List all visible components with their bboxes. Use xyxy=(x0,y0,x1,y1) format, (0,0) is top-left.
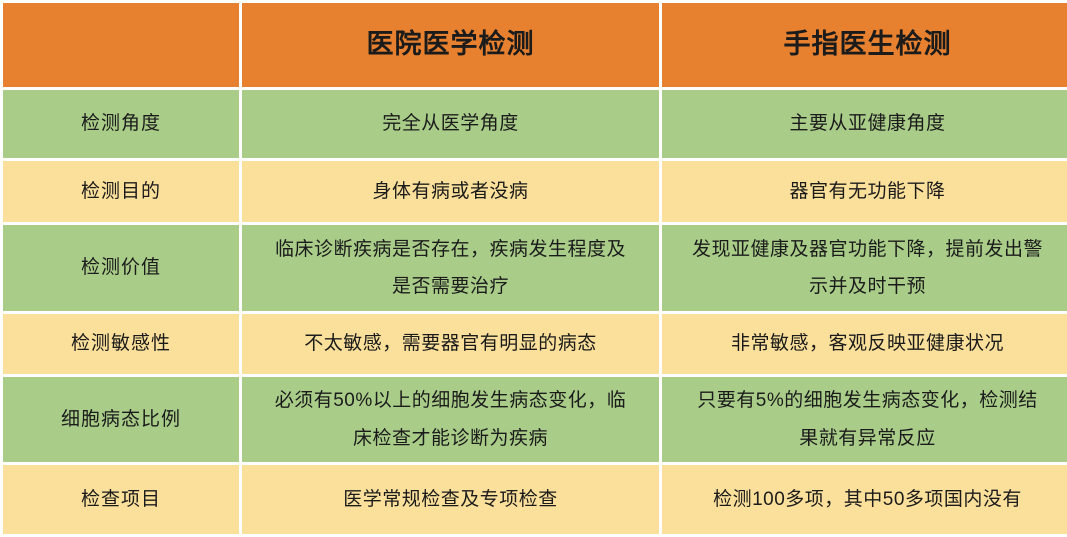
table-row: 细胞病态比例 必须有50%以上的细胞发生病态变化，临 床检查才能诊断为疾病 只要… xyxy=(3,377,1067,462)
cell-text-line-2: 是否需要治疗 xyxy=(250,268,651,305)
cell-finger-detection-purpose: 器官有无功能下降 xyxy=(662,161,1067,222)
cell-text-line-2: 床检查才能诊断为疾病 xyxy=(250,420,651,457)
cell-text-line-2: 果就有异常反应 xyxy=(670,420,1065,457)
table-row: 检查项目 医学常规检查及专项检查 检测100多项，其中50多项国内没有 xyxy=(3,465,1067,534)
cell-finger-examination-items: 检测100多项，其中50多项国内没有 xyxy=(662,465,1067,534)
table-row: 检测角度 完全从医学角度 主要从亚健康角度 xyxy=(3,90,1067,158)
row-label-detection-angle: 检测角度 xyxy=(3,90,239,158)
cell-text-line-1: 必须有50%以上的细胞发生病态变化，临 xyxy=(250,382,651,419)
cell-hospital-cell-pathology-ratio: 必须有50%以上的细胞发生病态变化，临 床检查才能诊断为疾病 xyxy=(242,377,659,462)
comparison-table: 医院医学检测 手指医生检测 检测角度 完全从医学角度 主要从亚健康角度 检测目的… xyxy=(0,0,1067,537)
cell-finger-detection-value: 发现亚健康及器官功能下降，提前发出警 示并及时干预 xyxy=(662,225,1067,311)
table-header-row: 医院医学检测 手指医生检测 xyxy=(3,3,1067,87)
cell-finger-detection-angle: 主要从亚健康角度 xyxy=(662,90,1067,158)
row-label-detection-value: 检测价值 xyxy=(3,225,239,311)
cell-text-line-2: 示并及时干预 xyxy=(670,268,1065,305)
row-label-cell-pathology-ratio: 细胞病态比例 xyxy=(3,377,239,462)
table-body: 检测角度 完全从医学角度 主要从亚健康角度 检测目的 身体有病或者没病 器官有无… xyxy=(3,90,1067,534)
row-label-examination-items: 检查项目 xyxy=(3,465,239,534)
cell-finger-cell-pathology-ratio: 只要有5%的细胞发生病态变化，检测结 果就有异常反应 xyxy=(662,377,1067,462)
cell-finger-detection-sensitivity: 非常敏感，客观反映亚健康状况 xyxy=(662,314,1067,374)
table-row: 检测目的 身体有病或者没病 器官有无功能下降 xyxy=(3,161,1067,222)
cell-hospital-detection-value: 临床诊断疾病是否存在，疾病发生程度及 是否需要治疗 xyxy=(242,225,659,311)
cell-text-line-1: 只要有5%的细胞发生病态变化，检测结 xyxy=(670,382,1065,419)
table-row: 检测价值 临床诊断疾病是否存在，疾病发生程度及 是否需要治疗 发现亚健康及器官功… xyxy=(3,225,1067,311)
cell-hospital-detection-angle: 完全从医学角度 xyxy=(242,90,659,158)
cell-text-line-1: 发现亚健康及器官功能下降，提前发出警 xyxy=(670,231,1065,268)
cell-hospital-detection-sensitivity: 不太敏感，需要器官有明显的病态 xyxy=(242,314,659,374)
row-label-detection-sensitivity: 检测敏感性 xyxy=(3,314,239,374)
table-row: 检测敏感性 不太敏感，需要器官有明显的病态 非常敏感，客观反映亚健康状况 xyxy=(3,314,1067,374)
header-cell-hospital: 医院医学检测 xyxy=(242,3,659,87)
header-cell-blank xyxy=(3,3,239,87)
cell-hospital-examination-items: 医学常规检查及专项检查 xyxy=(242,465,659,534)
row-label-detection-purpose: 检测目的 xyxy=(3,161,239,222)
cell-hospital-detection-purpose: 身体有病或者没病 xyxy=(242,161,659,222)
header-cell-finger: 手指医生检测 xyxy=(662,3,1067,87)
cell-text-line-1: 临床诊断疾病是否存在，疾病发生程度及 xyxy=(250,231,651,268)
